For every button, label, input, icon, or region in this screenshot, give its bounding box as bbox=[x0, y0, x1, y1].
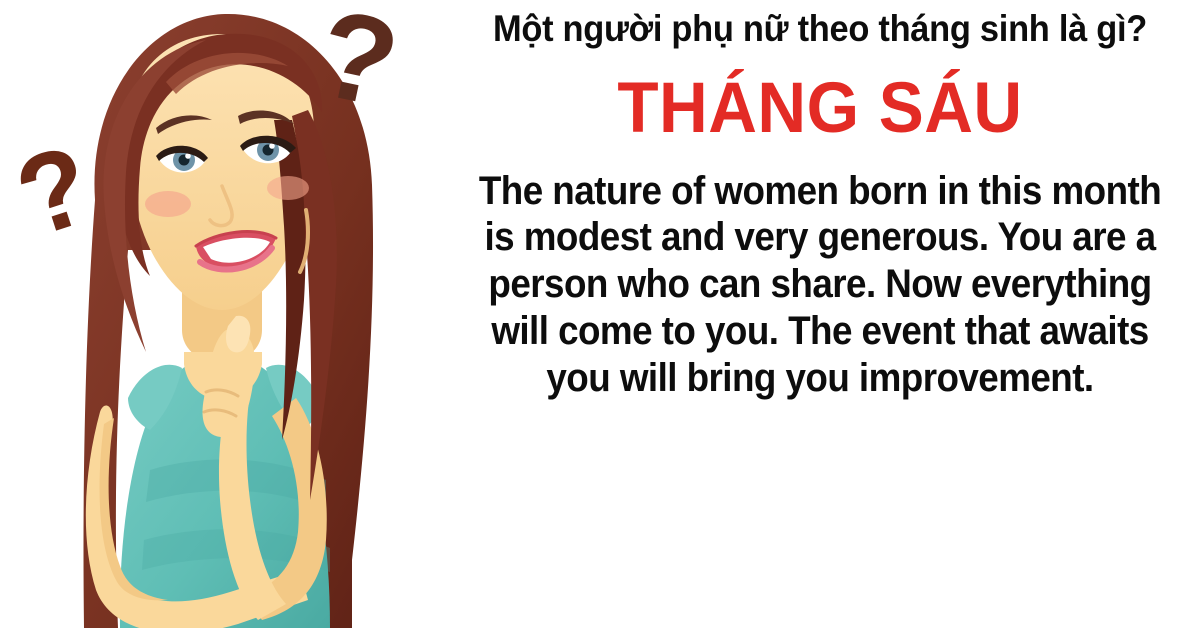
poster-canvas: ? ? Một người phụ nữ theo tháng sinh là … bbox=[0, 0, 1200, 628]
svg-text:?: ? bbox=[2, 121, 106, 261]
question-mark-left: ? bbox=[2, 121, 106, 261]
text-panel: Một người phụ nữ theo tháng sinh là gì? … bbox=[446, 0, 1194, 628]
headline-question: Một người phụ nữ theo tháng sinh là gì? bbox=[476, 8, 1164, 51]
body-description: The nature of women born in this month i… bbox=[478, 168, 1162, 402]
month-title: THÁNG SÁU bbox=[469, 73, 1172, 144]
woman-illustration: ? ? bbox=[0, 0, 440, 628]
question-mark-top-right: ? bbox=[307, 0, 410, 134]
svg-text:?: ? bbox=[307, 0, 410, 134]
